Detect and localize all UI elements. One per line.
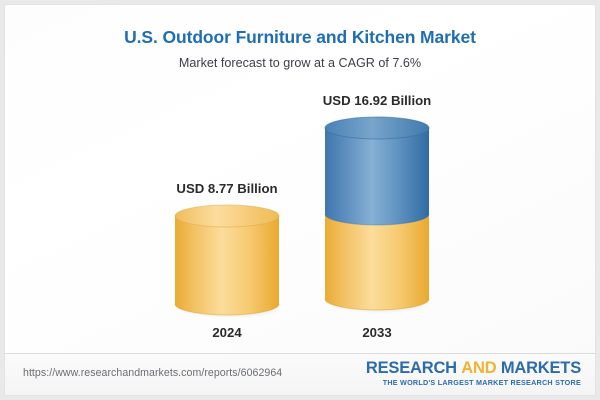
- logo-word-and: AND: [461, 359, 496, 377]
- chart-card: U.S. Outdoor Furniture and Kitchen Marke…: [4, 4, 596, 396]
- chart-plot-area: USD 8.77 Billion: [5, 5, 596, 353]
- bar-cylinder-2033[interactable]: [323, 115, 431, 316]
- bar-value-label-2024: USD 8.77 Billion: [117, 181, 337, 196]
- logo-word-research: RESEARCH: [366, 359, 457, 377]
- research-and-markets-logo[interactable]: RESEARCH AND MARKETS THE WORLD'S LARGEST…: [366, 359, 581, 387]
- logo-word-markets: MARKETS: [501, 359, 581, 377]
- bar-cylinder-2024[interactable]: [173, 203, 281, 321]
- logo-wordmark: RESEARCH AND MARKETS: [366, 359, 581, 378]
- report-url-link[interactable]: https://www.researchandmarkets.com/repor…: [23, 367, 282, 379]
- footer: https://www.researchandmarkets.com/repor…: [5, 354, 596, 396]
- bar-category-label-2033: 2033: [267, 325, 487, 340]
- logo-tagline: THE WORLD'S LARGEST MARKET RESEARCH STOR…: [366, 378, 581, 387]
- bar-value-label-2033: USD 16.92 Billion: [267, 93, 487, 108]
